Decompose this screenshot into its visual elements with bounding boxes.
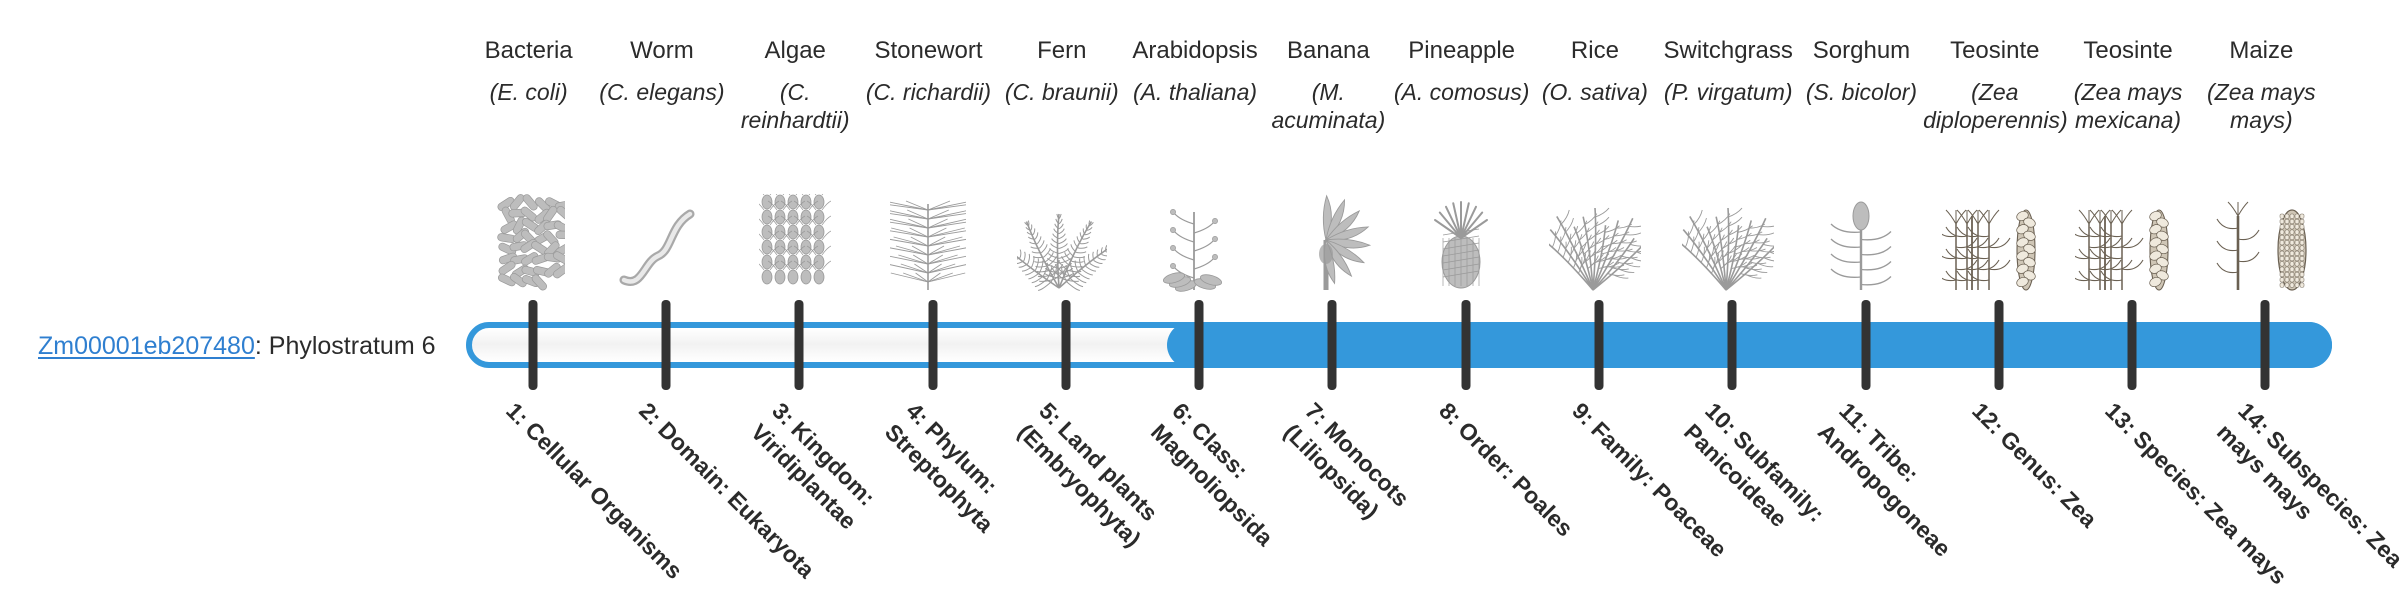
species-column-switchgrass: Switchgrass(P. virgatum) <box>1656 36 1801 106</box>
species-column-banana: Banana(M. acuminata) <box>1256 36 1401 134</box>
species-illustration-sorghum-icon <box>1789 164 1934 292</box>
species-scientific-name: (Zea mays mays) <box>2189 78 2334 134</box>
species-scientific-name: (C. elegans) <box>589 78 734 106</box>
species-scientific-name: (C. braunii) <box>989 78 1134 106</box>
phylostratum-taxon: Zea mays <box>2200 497 2293 590</box>
tick-mark-9 <box>1594 300 1603 390</box>
phylostratum-taxon: Poaceae <box>1648 478 1732 562</box>
gene-separator: : <box>255 332 269 360</box>
species-scientific-name: (S. bicolor) <box>1789 78 1934 106</box>
phylostratum-rank: Species: <box>2128 425 2213 510</box>
bar-fill <box>1167 322 2332 368</box>
gene-id-link[interactable]: Zm00001eb207480 <box>38 332 255 360</box>
gene-phylostratum-label: Zm00001eb207480: Phylostratum 6 <box>38 331 458 361</box>
species-column-fern: Fern(C. braunii) <box>989 36 1134 106</box>
gene-phylostratum-value: Phylostratum 6 <box>269 332 436 360</box>
tick-mark-2 <box>661 300 670 390</box>
species-column-maize: Maize(Zea mays mays) <box>2189 36 2334 134</box>
species-common-name: Sorghum <box>1789 36 1934 66</box>
species-common-name: Switchgrass <box>1656 36 1801 66</box>
species-common-name: Teosinte <box>1922 36 2067 66</box>
species-illustration-pineapple-icon <box>1389 164 1534 292</box>
species-illustration-rice-icon <box>1522 164 1667 292</box>
species-common-name: Arabidopsis <box>1122 36 1267 66</box>
species-scientific-name: (Zea diploperennis) <box>1922 78 2067 134</box>
species-common-name: Algae <box>723 36 868 66</box>
phylostratum-rank: Domain: <box>653 416 736 499</box>
species-scientific-name: (A. comosus) <box>1389 78 1534 106</box>
species-column-teosinte: Teosinte(Zea mays mexicana) <box>2055 36 2200 134</box>
species-common-name: Maize <box>2189 36 2334 66</box>
species-scientific-name: (M. acuminata) <box>1256 78 1401 134</box>
species-header-row: Bacteria(E. coli)Worm(C. elegans) Algae(… <box>462 36 2352 296</box>
tick-mark-3 <box>795 300 804 390</box>
species-scientific-name: (C. reinhardtii) <box>723 78 868 134</box>
phylostratum-label-14: 14: Subspecies: Zea mays mays <box>2211 396 2400 615</box>
phylostratum-taxon: Poales <box>1507 471 1578 542</box>
tick-mark-7 <box>1328 300 1337 390</box>
species-scientific-name: (E. coli) <box>456 78 601 106</box>
species-column-sorghum: Sorghum(S. bicolor) <box>1789 36 1934 106</box>
tick-mark-14 <box>2261 300 2270 390</box>
species-scientific-name: (C. richardii) <box>856 78 1001 106</box>
species-illustration-stonewort-icon <box>856 164 1001 292</box>
phylostratum-number: 12: <box>1967 397 2009 439</box>
species-column-pineapple: Pineapple(A. comosus) <box>1389 36 1534 106</box>
tick-mark-5 <box>1061 300 1070 390</box>
phylostratum-rank: Cellular <box>520 416 598 494</box>
tick-mark-11 <box>1861 300 1870 390</box>
tick-mark-10 <box>1728 300 1737 390</box>
phylostratum-number: 13: <box>2100 397 2142 439</box>
species-illustration-algae-icon <box>723 164 868 292</box>
species-illustration-switchgrass-icon <box>1656 164 1801 292</box>
species-scientific-name: (P. virgatum) <box>1656 78 1801 106</box>
species-illustration-teosinte-icon <box>1922 164 2067 292</box>
species-common-name: Bacteria <box>456 36 601 66</box>
tick-mark-8 <box>1461 300 1470 390</box>
species-illustration-worm-icon <box>589 164 734 292</box>
species-illustration-banana-icon <box>1256 164 1401 292</box>
species-scientific-name: (A. thaliana) <box>1122 78 1267 106</box>
phylostratum-rank: Family: <box>1586 416 1661 491</box>
species-common-name: Fern <box>989 36 1134 66</box>
tick-mark-6 <box>1195 300 1204 390</box>
species-illustration-arabidopsis-icon <box>1122 164 1267 292</box>
species-column-teosinte: Teosinte(Zea diploperennis) <box>1922 36 2067 134</box>
phylostratum-figure: Zm00001eb207480: Phylostratum 6 Bacteria… <box>0 0 2400 580</box>
phylostratum-taxon: Eukaryota <box>723 486 820 583</box>
species-common-name: Rice <box>1522 36 1667 66</box>
phylostratum-rank: Genus: <box>1995 425 2069 499</box>
phylostratum-taxon: Zea <box>2056 486 2102 532</box>
species-common-name: Banana <box>1256 36 1401 66</box>
species-column-stonewort: Stonewort(C. richardii) <box>856 36 1001 106</box>
species-column-arabidopsis: Arabidopsis(A. thaliana) <box>1122 36 1267 106</box>
species-common-name: Stonewort <box>856 36 1001 66</box>
species-scientific-name: (Zea mays mexicana) <box>2055 78 2200 134</box>
species-column-algae: Algae(C. reinhardtii) <box>723 36 868 134</box>
tick-mark-1 <box>528 300 537 390</box>
species-illustration-maize-icon <box>2189 164 2334 292</box>
tick-mark-13 <box>2128 300 2137 390</box>
species-common-name: Worm <box>589 36 734 66</box>
species-common-name: Teosinte <box>2055 36 2200 66</box>
tick-mark-4 <box>928 300 937 390</box>
species-illustration-fern-icon <box>989 164 1134 292</box>
tick-mark-12 <box>1994 300 2003 390</box>
species-common-name: Pineapple <box>1389 36 1534 66</box>
species-illustration-teosinte-icon <box>2055 164 2200 292</box>
species-scientific-name: (O. sativa) <box>1522 78 1667 106</box>
species-column-worm: Worm(C. elegans) <box>589 36 734 106</box>
species-column-rice: Rice(O. sativa) <box>1522 36 1667 106</box>
phylostratum-rank: Order: <box>1453 416 1521 484</box>
species-illustration-bacteria-icon <box>456 164 601 292</box>
phylostratum-taxon: Organisms <box>584 481 687 584</box>
phylostratum-bar[interactable] <box>466 322 2332 368</box>
species-column-bacteria: Bacteria(E. coli) <box>456 36 601 106</box>
